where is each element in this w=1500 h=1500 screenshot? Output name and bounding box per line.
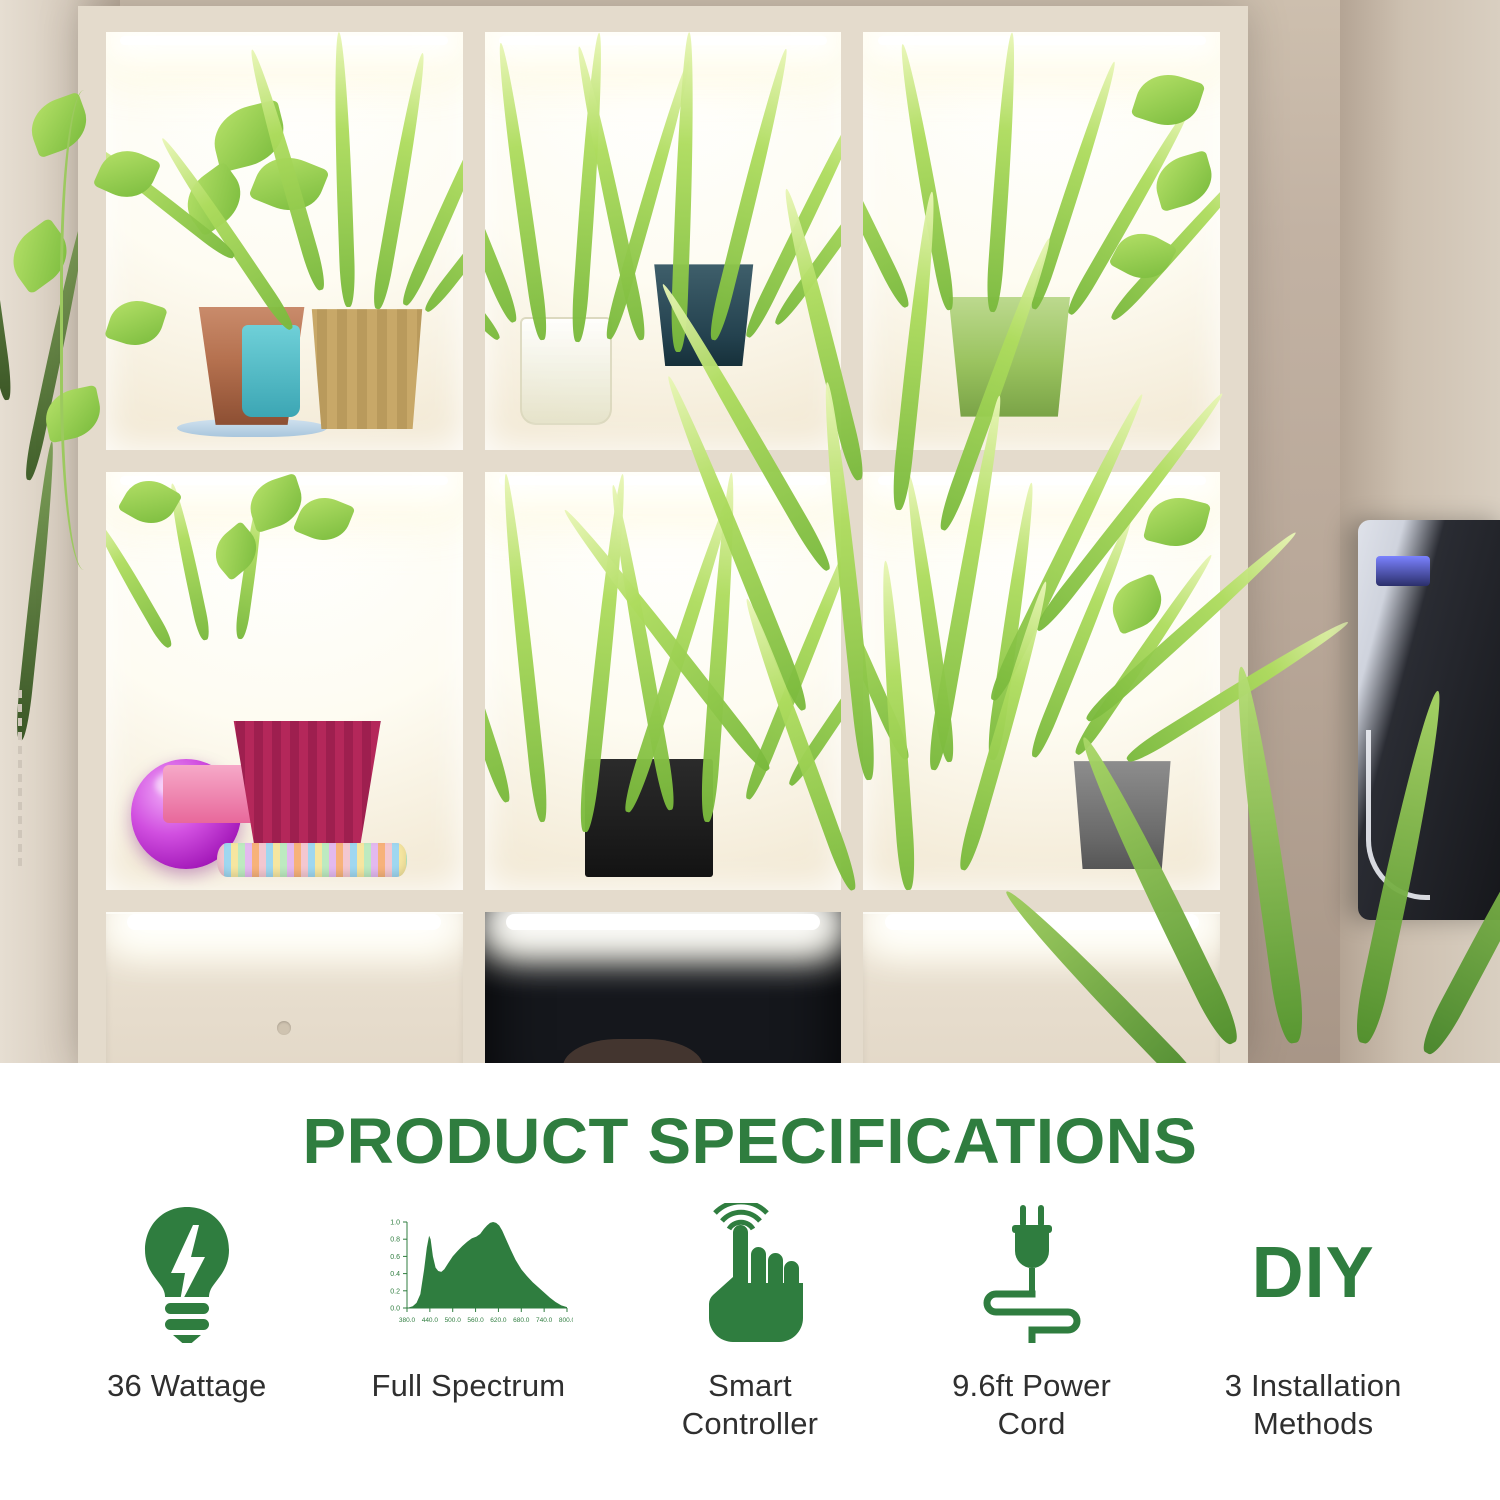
spectrum-chart-svg: 0.00.20.40.60.81.0 380.0440.0500.0560.06… — [363, 1214, 573, 1332]
svg-text:740.0: 740.0 — [536, 1317, 553, 1324]
spec-label-wattage: 36 Wattage — [107, 1367, 266, 1405]
product-specifications-section: PRODUCT SPECIFICATIONS 36 Wattage — [0, 1063, 1500, 1500]
spec-item-power-cord: 9.6ft Power Cord — [891, 1203, 1173, 1443]
spec-label-power-cord: 9.6ft Power Cord — [952, 1367, 1111, 1443]
rainbow-bead-tray — [217, 843, 407, 877]
svg-text:560.0: 560.0 — [468, 1317, 485, 1324]
spec-label-installation-line2: Methods — [1225, 1405, 1402, 1443]
shelf-cubby-6 — [863, 472, 1220, 890]
trailing-pothos — [0, 60, 210, 960]
diy-word: DIY — [1252, 1237, 1375, 1309]
spec-label-controller-line1: Smart — [682, 1367, 818, 1405]
spec-label-controller: Smart Controller — [682, 1367, 818, 1443]
shelf-cubby-dark — [485, 912, 842, 1063]
shelf-cubby-3 — [863, 32, 1220, 450]
svg-text:380.0: 380.0 — [399, 1317, 416, 1324]
spec-label-spectrum: Full Spectrum — [371, 1367, 565, 1405]
cube-shelf-unit — [78, 6, 1248, 1063]
spec-item-wattage: 36 Wattage — [46, 1203, 328, 1405]
page-title: PRODUCT SPECIFICATIONS — [0, 1063, 1500, 1173]
svg-text:1.0: 1.0 — [391, 1220, 401, 1227]
foreground-floor-plant — [1200, 553, 1500, 1063]
product-listing-image: PRODUCT SPECIFICATIONS 36 Wattage — [0, 0, 1500, 1500]
svg-text:0.0: 0.0 — [391, 1306, 401, 1313]
product-lifestyle-photo — [0, 0, 1500, 1063]
touch-hand-icon — [695, 1203, 805, 1343]
shelf-cubby-5 — [485, 472, 842, 890]
spec-item-controller: Smart Controller — [609, 1203, 891, 1443]
diy-text-icon: DIY — [1252, 1203, 1375, 1343]
svg-text:620.0: 620.0 — [491, 1317, 508, 1324]
navy-pot — [649, 264, 759, 366]
spectrum-y-axis: 0.00.20.40.60.81.0 — [391, 1220, 408, 1313]
svg-text:0.2: 0.2 — [391, 1288, 401, 1295]
shelf-cubby-2 — [485, 32, 842, 450]
spec-label-controller-line2: Controller — [682, 1405, 818, 1443]
spec-label-installation: 3 Installation Methods — [1225, 1367, 1402, 1443]
svg-text:0.4: 0.4 — [391, 1271, 401, 1278]
svg-text:680.0: 680.0 — [514, 1317, 531, 1324]
bamboo-pot — [307, 309, 427, 429]
magenta-pot — [227, 721, 387, 857]
glass-propagation-jar — [520, 317, 612, 425]
spectrum-x-axis: 380.0440.0500.0560.0620.0680.0740.0800.0 — [399, 1308, 573, 1324]
green-ceramic-pot — [942, 297, 1077, 417]
spec-item-installation: DIY 3 Installation Methods — [1172, 1203, 1454, 1443]
spec-item-spectrum: 0.00.20.40.60.81.0 380.0440.0500.0560.06… — [328, 1203, 610, 1405]
svg-text:500.0: 500.0 — [445, 1317, 462, 1324]
drawer-knob[interactable] — [277, 1021, 291, 1035]
spec-label-power-cord-line1: 9.6ft Power — [952, 1367, 1111, 1405]
svg-text:800.0: 800.0 — [559, 1317, 573, 1324]
lightbulb-icon — [129, 1203, 245, 1343]
svg-text:0.8: 0.8 — [391, 1237, 401, 1244]
svg-text:0.6: 0.6 — [391, 1254, 401, 1261]
power-plug-icon — [972, 1203, 1092, 1343]
black-square-pot — [585, 759, 713, 877]
svg-text:440.0: 440.0 — [422, 1317, 439, 1324]
spectrum-area-path — [407, 1222, 567, 1308]
teal-knit-pot — [242, 325, 300, 417]
spec-items-row: 36 Wattage 0.00.20.40.60.81.0 380.0440.0… — [0, 1173, 1500, 1443]
spec-label-installation-line1: 3 Installation — [1225, 1367, 1402, 1405]
spec-label-power-cord-line2: Cord — [952, 1405, 1111, 1443]
spectrum-chart-icon: 0.00.20.40.60.81.0 380.0440.0500.0560.06… — [363, 1203, 573, 1343]
